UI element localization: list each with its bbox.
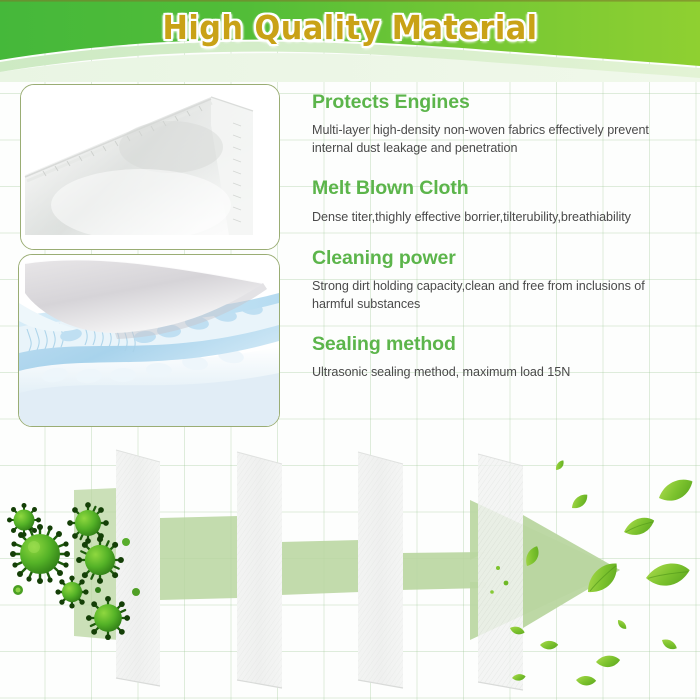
fabric-photo-box — [20, 84, 280, 250]
filter-sheet-2 — [237, 452, 282, 688]
feature-heading: Melt Blown Cloth — [312, 178, 684, 199]
feature-body: Multi-layer high-density non-woven fabri… — [312, 122, 684, 158]
filter-sheet-4 — [478, 454, 523, 690]
feature-item-cleaning-power: Cleaning power Strong dirt holding capac… — [312, 248, 684, 314]
feature-heading: Protects Engines — [312, 92, 684, 113]
feature-list: Protects Engines Multi-layer high-densit… — [312, 92, 684, 382]
filter-sheet-1 — [116, 450, 160, 686]
feature-body: Strong dirt holding capacity,clean and f… — [312, 278, 684, 314]
filtration-diagram — [0, 440, 700, 700]
page-title: High Quality Material — [28, 8, 672, 47]
layers-photo-box — [18, 254, 280, 427]
feature-heading: Cleaning power — [312, 248, 684, 269]
feature-body: Dense titer,thighly effective borrier,ti… — [312, 209, 684, 227]
filter-sheet-3 — [358, 452, 403, 688]
infographic-page: High Quality Material — [0, 0, 700, 700]
feature-item-melt-blown-cloth: Melt Blown Cloth Dense titer,thighly eff… — [312, 178, 684, 226]
feature-heading: Sealing method — [312, 334, 684, 355]
feature-body: Ultrasonic sealing method, maximum load … — [312, 364, 684, 382]
feature-item-sealing-method: Sealing method Ultrasonic sealing method… — [312, 334, 684, 382]
material-cross-section-photo — [19, 255, 279, 426]
header-banner: High Quality Material — [0, 0, 700, 82]
non-woven-fabric-bag-photo — [21, 85, 279, 249]
feature-item-protects-engines: Protects Engines Multi-layer high-densit… — [312, 92, 684, 158]
